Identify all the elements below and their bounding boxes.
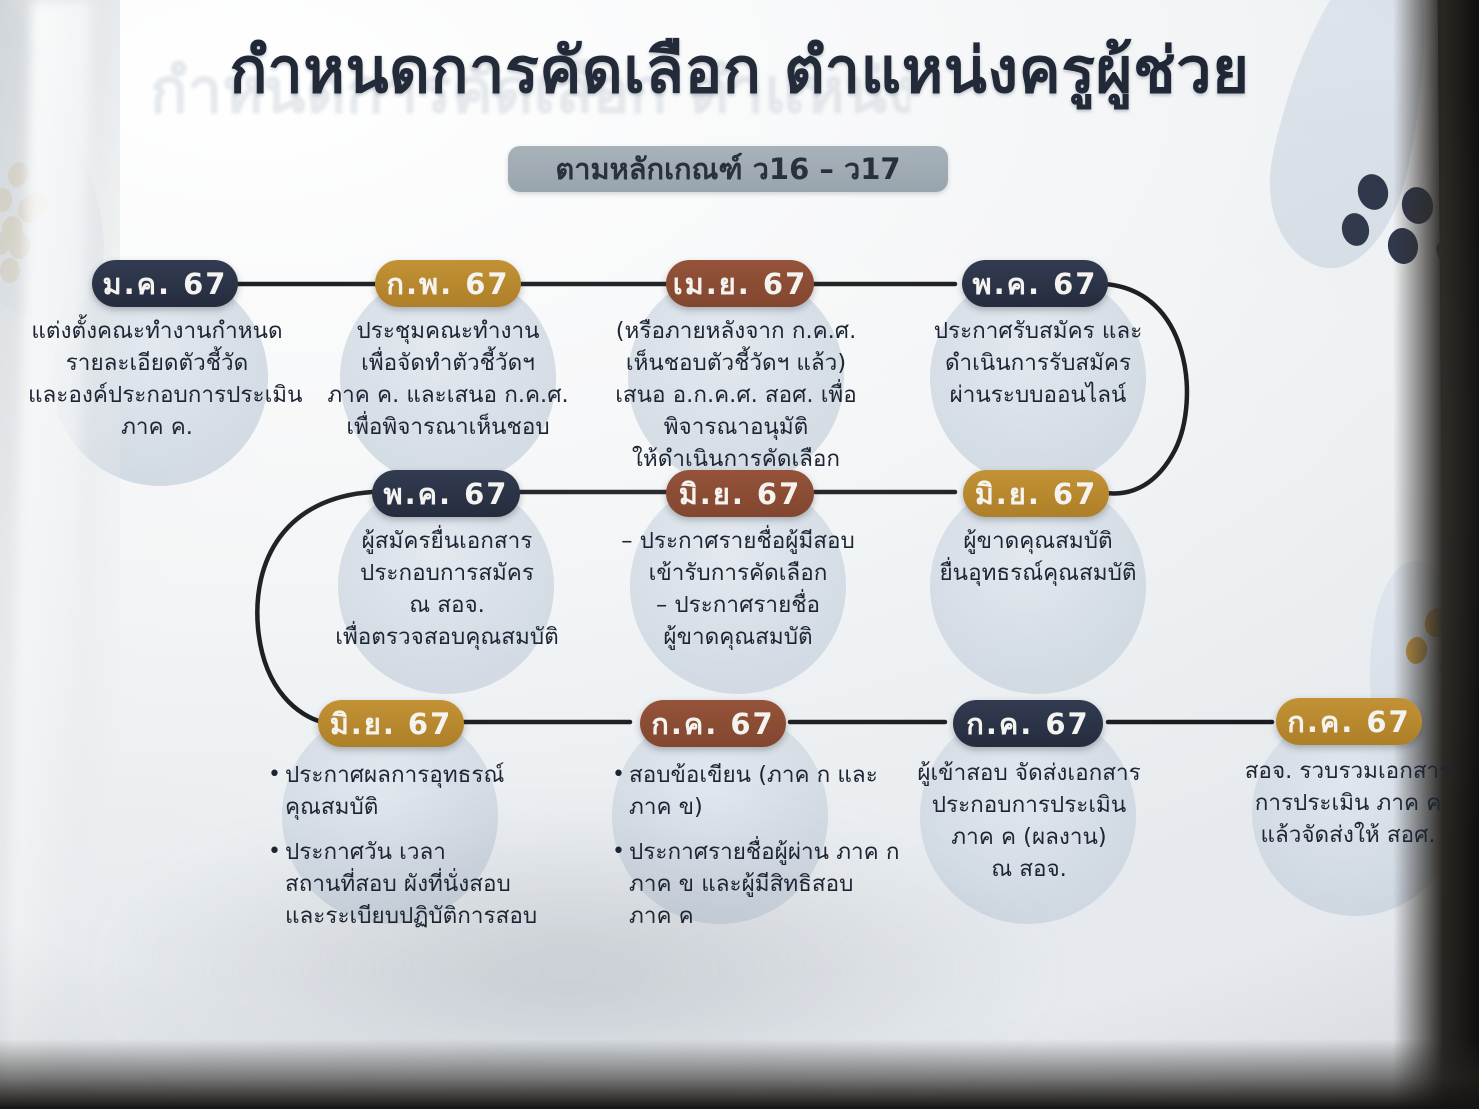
node-description: – ประกาศรายชื่อผู้มีสอบ เข้ารับการคัดเลื… — [604, 526, 872, 654]
node-line: – ประกาศรายชื่อผู้มีสอบ — [604, 526, 872, 558]
node-line: ผู้สมัครยื่นเอกสาร — [316, 526, 578, 558]
node-month-badge[interactable]: ก.ค. 67 — [953, 700, 1103, 747]
node-line: แต่งตั้งคณะทำงานกำหนด — [28, 316, 286, 348]
page-title: กำหนดการคัดเลือก ตำแหน่งครูผู้ช่วย — [0, 36, 1479, 105]
node-line: เห็นชอบตัวชี้วัดฯ แล้ว) — [600, 348, 872, 380]
node-line: ภาค ค — [629, 901, 860, 933]
node-line: ผู้ขาดคุณสมบัติ — [604, 622, 872, 654]
node-month-badge[interactable]: มิ.ย. 67 — [666, 470, 814, 517]
node-description: (หรือภายหลังจาก ก.ค.ศ. เห็นชอบตัวชี้วัดฯ… — [600, 316, 872, 476]
node-line: และองค์ประกอบการประเมิน — [28, 380, 286, 412]
node-line: เพื่อตรวจสอบคุณสมบัติ — [316, 622, 578, 654]
node-line: ผ่านระบบออนไลน์ — [904, 380, 1172, 412]
node-line: ณ สอจ. — [898, 854, 1160, 886]
node-description: สอบข้อเขียน (ภาค ก และ ภาค ข) ประกาศรายช… — [612, 760, 860, 946]
node-line: รายละเอียดตัวชี้วัด — [28, 348, 286, 380]
node-bullet-list: สอบข้อเขียน (ภาค ก และ ภาค ข) ประกาศรายช… — [612, 760, 860, 933]
node-month-badge[interactable]: ก.ค. 67 — [1276, 698, 1422, 745]
node-line: ประกาศวัน เวลา — [285, 837, 536, 869]
node-month-badge[interactable]: ม.ค. 67 — [92, 260, 238, 307]
node-line: ภาค ข) — [629, 792, 860, 824]
node-line: ประกอบการประเมิน — [898, 790, 1160, 822]
node-description: ประกาศรับสมัคร และ ดำเนินการรับสมัคร ผ่า… — [904, 316, 1172, 412]
node-line: เข้ารับการคัดเลือก — [604, 558, 872, 590]
node-description: ผู้เข้าสอบ จัดส่งเอกสาร ประกอบการประเมิน… — [898, 758, 1160, 886]
node-line: ดำเนินการรับสมัคร — [904, 348, 1172, 380]
node-line: ยื่นอุทธรณ์คุณสมบัติ — [902, 558, 1174, 590]
node-description: ประกาศผลการอุทธรณ์ คุณสมบัติ ประกาศวัน เ… — [268, 760, 536, 946]
node-line: เพื่อจัดทำตัวชี้วัดฯ — [316, 348, 580, 380]
node-line: เสนอ อ.ก.ค.ศ. สอศ. เพื่อ — [600, 380, 872, 412]
node-line: (หรือภายหลังจาก ก.ค.ศ. — [600, 316, 872, 348]
node-description: ประชุมคณะทำงาน เพื่อจัดทำตัวชี้วัดฯ ภาค … — [316, 316, 580, 444]
subtitle-badge: ตามหลักเกณฑ์ ว16 – ว17 — [508, 146, 948, 192]
node-line: ประกอบการสมัคร — [316, 558, 578, 590]
node-description: แต่งตั้งคณะทำงานกำหนด รายละเอียดตัวชี้วั… — [28, 316, 286, 444]
desk-edge-bottom — [0, 1039, 1479, 1109]
node-month-badge[interactable]: ก.ค. 67 — [640, 700, 786, 747]
node-month-badge[interactable]: ก.พ. 67 — [375, 260, 521, 307]
node-bullet-list: ประกาศผลการอุทธรณ์ คุณสมบัติ ประกาศวัน เ… — [268, 760, 536, 933]
node-month-badge[interactable]: มิ.ย. 67 — [318, 700, 464, 747]
node-month-badge[interactable]: พ.ค. 67 — [372, 470, 520, 517]
node-line: ผู้เข้าสอบ จัดส่งเอกสาร — [898, 758, 1160, 790]
node-line: ผู้ขาดคุณสมบัติ — [902, 526, 1174, 558]
node-line: พิจารณาอนุมัติ — [600, 412, 872, 444]
node-line: ประกาศผลการอุทธรณ์ — [285, 760, 536, 792]
node-description: สอจ. รวบรวมเอกสาร การประเมิน ภาค ค แล้วจ… — [1222, 756, 1474, 852]
node-month-badge[interactable]: พ.ค. 67 — [962, 260, 1108, 307]
node-line: สถานที่สอบ ผังที่นั่งสอบ — [285, 869, 536, 901]
node-bullet-item: ประกาศรายชื่อผู้ผ่าน ภาค ก ภาค ข และผู้ม… — [612, 837, 860, 933]
node-bullet-item: สอบข้อเขียน (ภาค ก และ ภาค ข) — [612, 760, 860, 824]
node-line: ภาค ค. — [28, 412, 286, 444]
desk-edge-right — [1393, 0, 1479, 1109]
node-line: ประกาศรายชื่อผู้ผ่าน ภาค ก — [629, 837, 860, 869]
node-line: สอจ. รวบรวมเอกสาร — [1222, 756, 1474, 788]
node-month-badge[interactable]: เม.ย. 67 — [666, 260, 814, 307]
photo-stage: กำหนดการคัดเลือก ตำแหน่งครูผู้ช่วย กำหนด… — [0, 0, 1479, 1109]
node-description: ผู้สมัครยื่นเอกสาร ประกอบการสมัคร ณ สอจ.… — [316, 526, 578, 654]
node-line: ภาค ข และผู้มีสิทธิสอบ — [629, 869, 860, 901]
node-bullet-item: ประกาศผลการอุทธรณ์ คุณสมบัติ — [268, 760, 536, 824]
node-line: – ประกาศรายชื่อ — [604, 590, 872, 622]
node-line: การประเมิน ภาค ค — [1222, 788, 1474, 820]
node-line: และระเบียบปฏิบัติการสอบ — [285, 901, 536, 933]
node-line: ประกาศรับสมัคร และ — [904, 316, 1172, 348]
node-line: ภาค ค (ผลงาน) — [898, 822, 1160, 854]
node-line: คุณสมบัติ — [285, 792, 536, 824]
node-month-badge[interactable]: มิ.ย. 67 — [963, 470, 1109, 517]
node-bullet-item: ประกาศวัน เวลา สถานที่สอบ ผังที่นั่งสอบ … — [268, 837, 536, 933]
node-line: ประชุมคณะทำงาน — [316, 316, 580, 348]
node-line: สอบข้อเขียน (ภาค ก และ — [629, 760, 860, 792]
node-description: ผู้ขาดคุณสมบัติ ยื่นอุทธรณ์คุณสมบัติ — [902, 526, 1174, 590]
node-line: ณ สอจ. — [316, 590, 578, 622]
node-line: ภาค ค. และเสนอ ก.ค.ศ. — [316, 380, 580, 412]
node-line: เพื่อพิจารณาเห็นชอบ — [316, 412, 580, 444]
node-line: แล้วจัดส่งให้ สอศ. — [1222, 820, 1474, 852]
